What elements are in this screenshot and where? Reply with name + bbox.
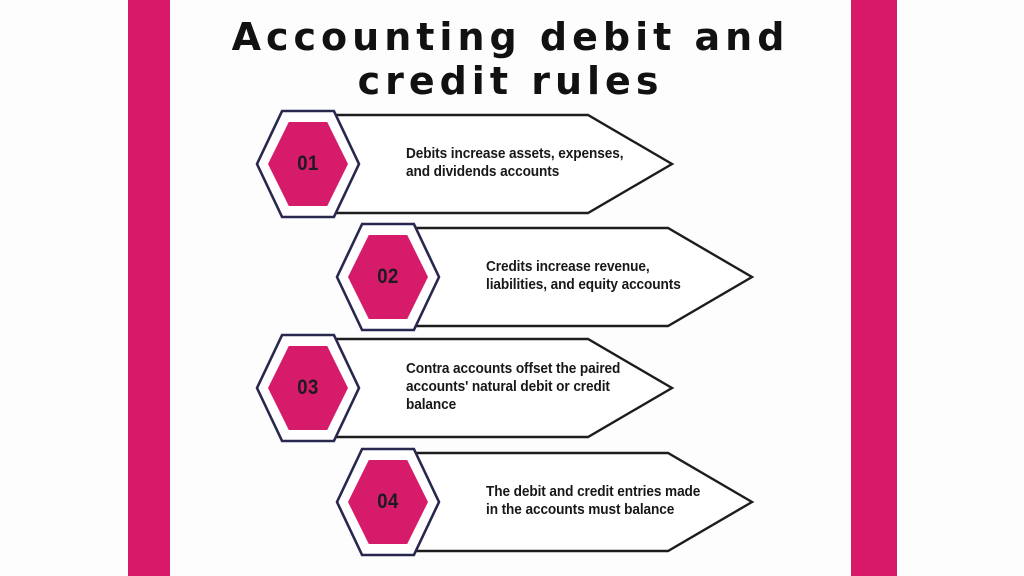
step-number-badge[interactable]: 03 <box>254 332 362 444</box>
step-description-line: in the accounts must balance <box>486 502 727 520</box>
step-row-04[interactable]: 04The debit and credit entries madein th… <box>334 450 764 554</box>
step-description-line: Debits increase assets, expenses, <box>406 146 647 164</box>
hexagon-icon <box>334 446 442 558</box>
hexagon-icon <box>254 332 362 444</box>
step-description-line: Credits increase revenue, <box>486 259 727 277</box>
hexagon-icon <box>254 108 362 220</box>
step-description-line: and dividends accounts <box>406 164 647 182</box>
step-number-badge[interactable]: 02 <box>334 221 442 333</box>
step-description-line: accounts' natural debit or credit <box>406 379 647 397</box>
step-description: The debit and credit entries madein the … <box>486 450 727 554</box>
step-description-line: balance <box>406 397 647 415</box>
steps-list: 01Debits increase assets, expenses,and d… <box>0 0 1024 576</box>
step-number-badge[interactable]: 04 <box>334 446 442 558</box>
step-description: Debits increase assets, expenses,and div… <box>406 112 647 216</box>
step-description-line: Contra accounts offset the paired <box>406 361 647 379</box>
step-row-03[interactable]: 03Contra accounts offset the pairedaccou… <box>254 336 684 440</box>
step-row-01[interactable]: 01Debits increase assets, expenses,and d… <box>254 112 684 216</box>
hexagon-icon <box>334 221 442 333</box>
slide-canvas: Accounting debit and credit rules 01Debi… <box>0 0 1024 576</box>
step-row-02[interactable]: 02Credits increase revenue,liabilities, … <box>334 225 764 329</box>
step-description: Credits increase revenue,liabilities, an… <box>486 225 727 329</box>
step-description: Contra accounts offset the pairedaccount… <box>406 336 647 440</box>
step-description-line: liabilities, and equity accounts <box>486 277 727 295</box>
step-number-badge[interactable]: 01 <box>254 108 362 220</box>
step-description-line: The debit and credit entries made <box>486 484 727 502</box>
